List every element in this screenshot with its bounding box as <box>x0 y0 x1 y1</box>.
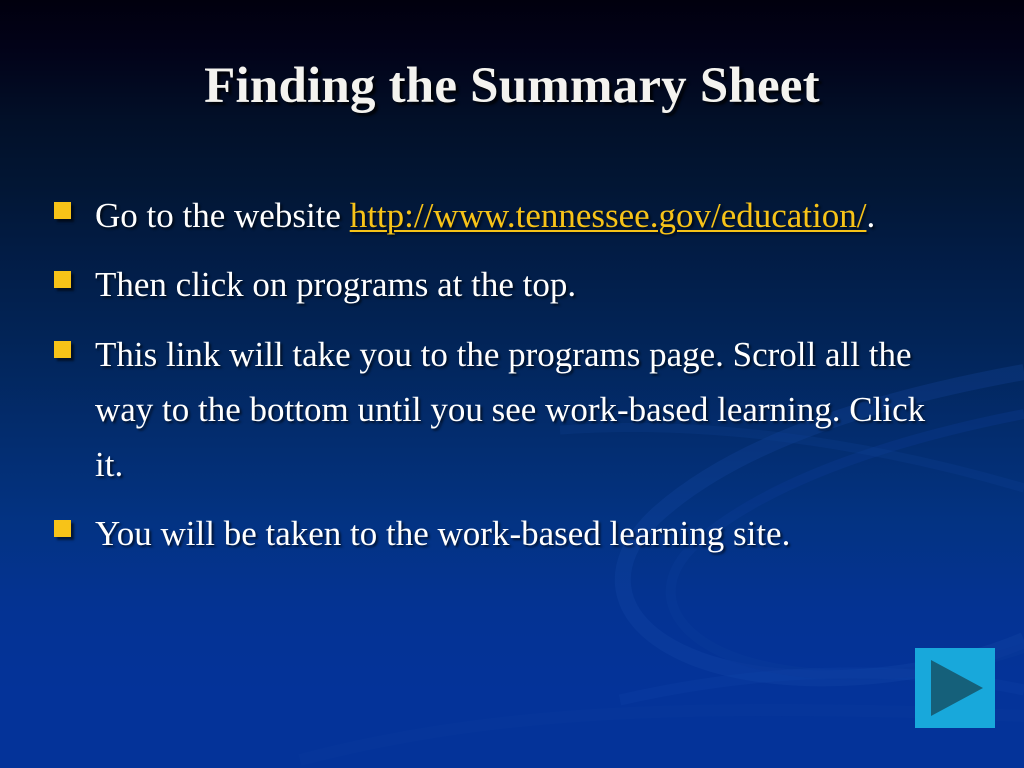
list-item: Go to the website http://www.tennessee.g… <box>54 188 954 243</box>
list-item: You will be taken to the work-based lear… <box>54 506 954 561</box>
bullet-marker-icon <box>54 520 71 537</box>
list-item-text: This link will take you to the programs … <box>95 327 954 493</box>
play-button[interactable] <box>915 648 995 728</box>
presentation-slide: Finding the Summary Sheet Go to the webs… <box>0 0 1024 768</box>
list-item-text-lead: Go to the website <box>95 196 350 235</box>
play-icon <box>915 648 995 728</box>
bullet-list: Go to the website http://www.tennessee.g… <box>54 188 954 576</box>
list-item-text: You will be taken to the work-based lear… <box>95 506 954 561</box>
bullet-marker-icon <box>54 202 71 219</box>
list-item-text-tail: . <box>866 196 875 235</box>
list-item-text: Then click on programs at the top. <box>95 257 954 312</box>
bullet-marker-icon <box>54 341 71 358</box>
bullet-marker-icon <box>54 271 71 288</box>
list-item: Then click on programs at the top. <box>54 257 954 312</box>
tennessee-education-link[interactable]: http://www.tennessee.gov/education/ <box>350 196 867 235</box>
page-title: Finding the Summary Sheet <box>0 60 1024 114</box>
list-item: This link will take you to the programs … <box>54 327 954 493</box>
list-item-text: Go to the website http://www.tennessee.g… <box>95 188 954 243</box>
